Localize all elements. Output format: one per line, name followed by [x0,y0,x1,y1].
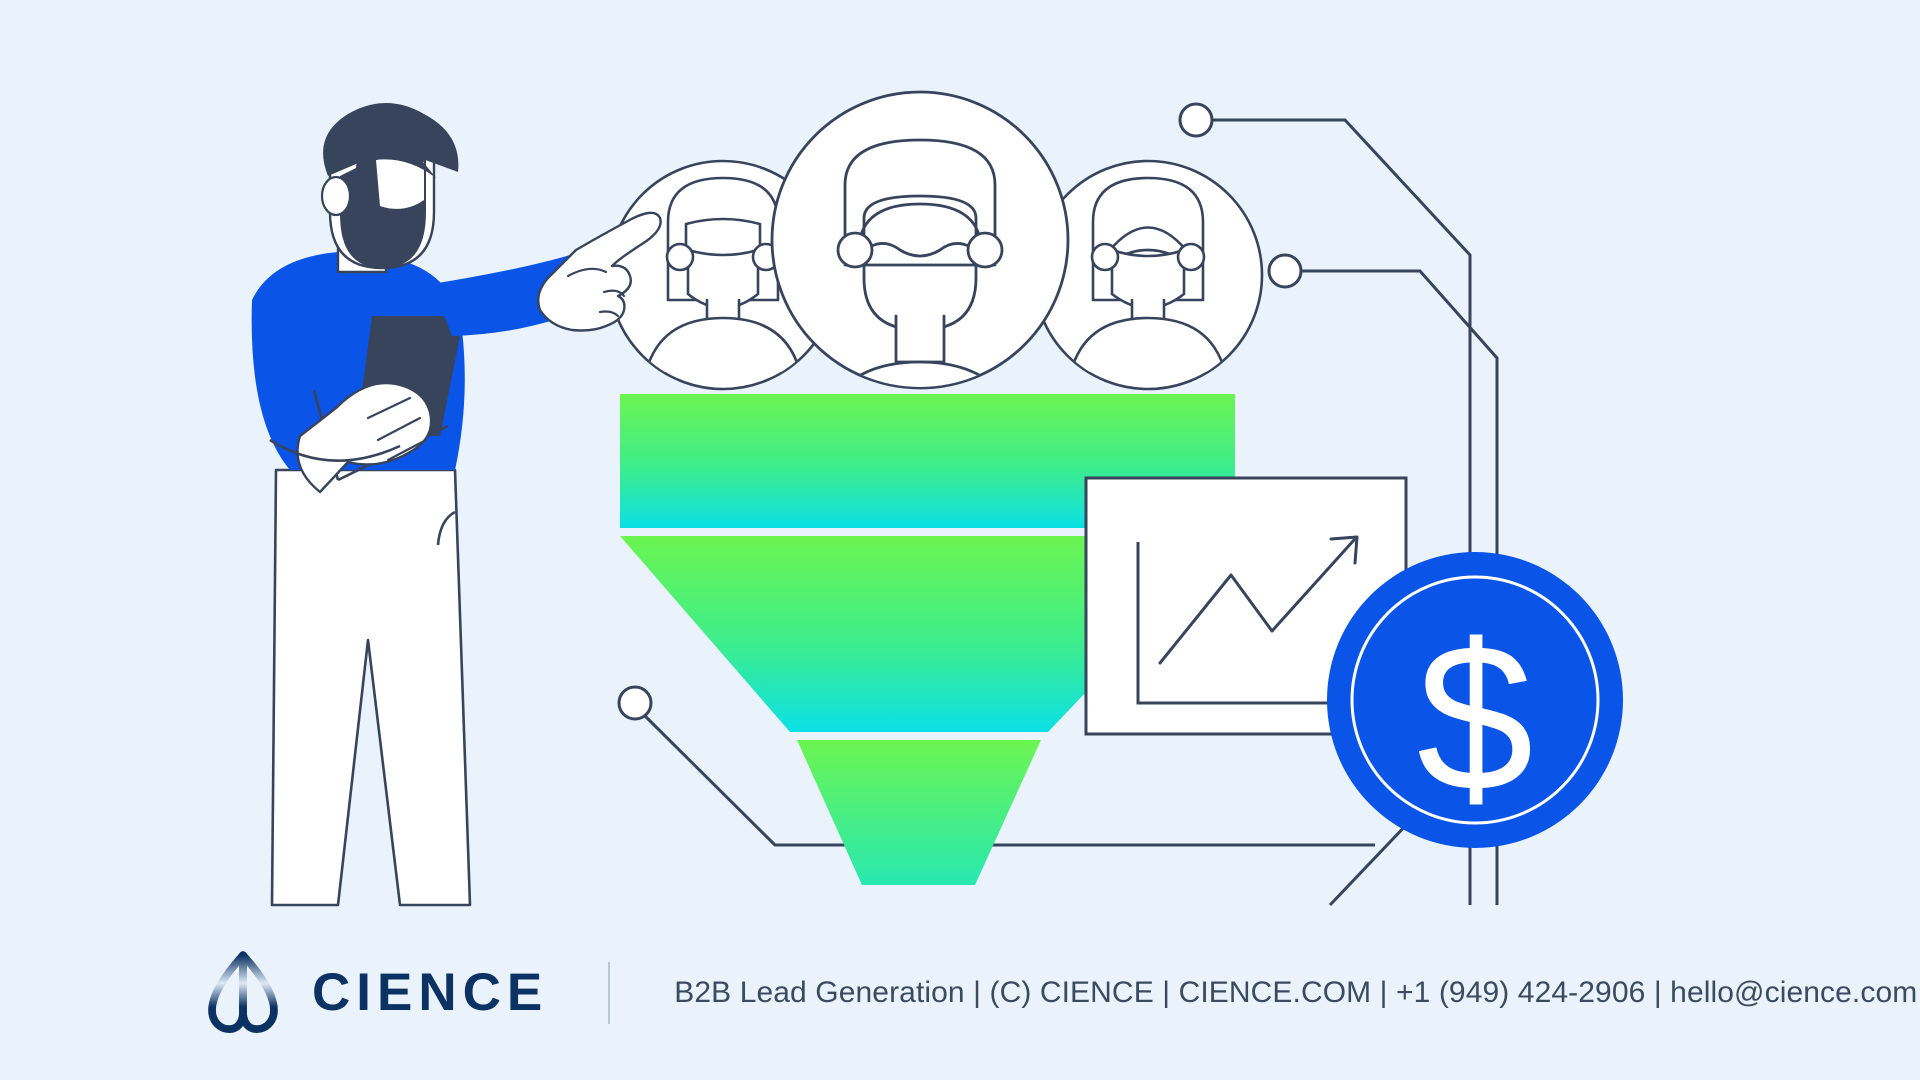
poster-canvas: $ [0,0,1920,1080]
dollar-sign-icon: $ [1417,600,1534,835]
footer-info-line: B2B Lead Generation | (C) CIENCE | CIENC… [674,976,1917,1010]
footer-bar: CIENCE B2B Lead Generation | (C) CIENCE … [0,905,1920,1080]
character-ear [322,177,350,215]
circuit-node-top-right [1180,104,1212,136]
footer-divider [608,962,610,1024]
circuit-node-left [619,687,651,719]
cience-logo[interactable]: CIENCE [200,950,548,1036]
cience-wordmark: CIENCE [312,966,548,1019]
cience-logo-mark [200,950,286,1036]
avatar-right-female [1034,161,1262,389]
circuit-node-mid-right [1269,255,1301,287]
dollar-coin: $ [1327,552,1623,848]
